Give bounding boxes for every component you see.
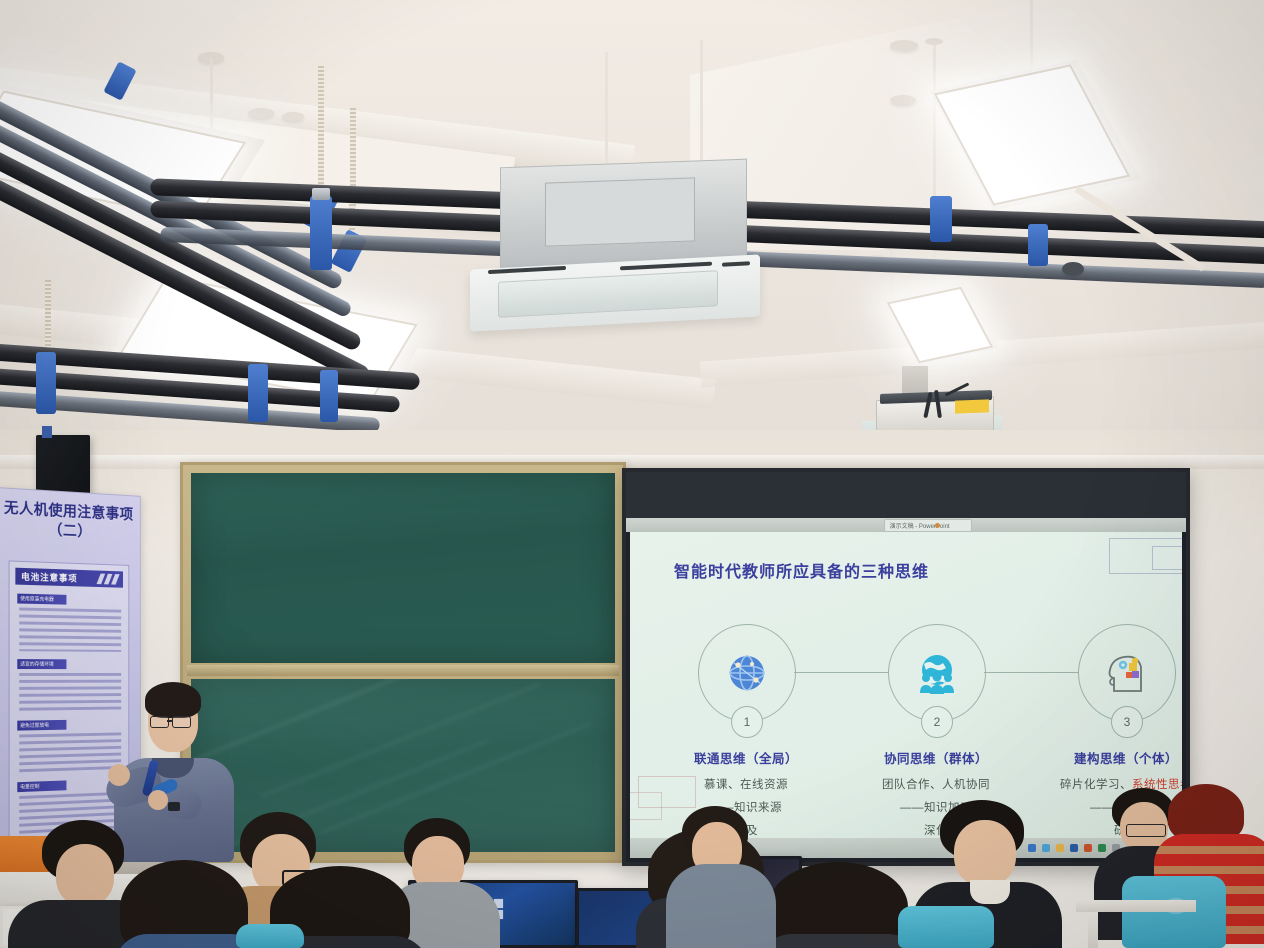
shirt-collar	[970, 880, 1010, 904]
slide-column-line-pre: 碎片化学习、	[1060, 779, 1132, 791]
slide-column-heading: 联通思维（全局）	[651, 748, 841, 767]
blackboard	[180, 462, 626, 863]
poster-section-heading: 适宜的存储环境	[17, 659, 66, 669]
ac-access-panel	[545, 177, 695, 246]
poster-title: 无人机使用注意事项 （二）	[0, 498, 140, 545]
smoke-detector-icon	[248, 108, 274, 118]
slide-node-3: 3	[1078, 624, 1176, 722]
poster-section-body	[19, 732, 121, 774]
ceiling	[0, 0, 1264, 470]
presenter-left-hand	[108, 764, 130, 786]
word-icon[interactable]	[1070, 844, 1078, 852]
projector-label	[955, 399, 989, 413]
window-title: 演示文稿 - PowerPoint	[890, 521, 950, 530]
classroom-photo: 无人机使用注意事项 （二） 电池注意事项 使用原装充电器 适宜的存储环境 避免过…	[0, 0, 1264, 948]
head-gears-puzzle-icon	[1101, 647, 1153, 699]
node-connector	[984, 672, 1078, 673]
slide-column-heading: 协同思维（群体）	[841, 748, 1031, 767]
glasses-icon	[172, 716, 191, 728]
speaker-bracket	[42, 426, 52, 438]
slide-node-number: 1	[731, 706, 763, 738]
pipe-clamp	[320, 370, 338, 422]
wall-speaker	[36, 435, 90, 495]
presenter-right-hand	[148, 790, 168, 810]
record-dot-icon	[935, 523, 940, 528]
slide-column-line: ——知识来源	[651, 799, 841, 815]
hanger-rod	[210, 58, 213, 136]
slide-node-number: 2	[921, 706, 953, 738]
slide-node-number: 3	[1111, 706, 1143, 738]
smoke-detector-icon	[890, 95, 916, 105]
glasses-bridge	[167, 720, 172, 722]
slide-node-1: 1	[698, 624, 796, 722]
poster-banner: 电池注意事项	[15, 568, 123, 588]
blackboard-rail	[187, 665, 619, 676]
presenter-hair	[145, 682, 201, 718]
head	[56, 844, 114, 906]
hanger-rod	[933, 42, 936, 292]
glasses-icon	[150, 716, 169, 728]
classroom-chair[interactable]	[898, 906, 994, 948]
poster-banner-label: 电池注意事项	[21, 570, 77, 585]
display-bezel	[626, 472, 1186, 518]
poster-section-label: 电量控制	[20, 782, 39, 790]
presenter	[112, 672, 236, 862]
smoke-detector-icon	[282, 112, 304, 121]
pipe-clamp	[930, 196, 952, 242]
globe-network-icon	[721, 647, 773, 699]
camera-dome-icon	[1062, 262, 1084, 276]
hanger-rod	[605, 52, 608, 172]
pipe-clamp	[310, 196, 332, 270]
node-connector	[794, 672, 888, 673]
rod-cap	[925, 38, 943, 45]
pipe-clamp	[1028, 224, 1048, 266]
presentation-slide: 智能时代教师所应具备的三种思维	[630, 532, 1182, 838]
browser-icon[interactable]	[1042, 844, 1050, 852]
classroom-chair[interactable]	[1122, 876, 1226, 948]
chevron-icon	[111, 574, 119, 585]
slide-column-line: 慕课、在线资源	[651, 776, 841, 792]
explorer-icon[interactable]	[1028, 844, 1036, 852]
poster-section-heading: 使用原装充电器	[17, 594, 66, 605]
rod-cap	[202, 52, 220, 59]
slide-node-2: 2	[888, 624, 986, 722]
slide-decoration-top-right-2	[1152, 546, 1182, 570]
pipe-clamp	[248, 364, 268, 422]
slide-title: 智能时代教师所应具备的三种思维	[674, 558, 929, 582]
chalk-smudge	[262, 683, 541, 797]
poster-section-body	[19, 608, 121, 652]
glasses-icon	[1126, 824, 1166, 837]
classroom-chair[interactable]	[236, 924, 304, 948]
poster-section-label: 避免过度放电	[20, 721, 49, 729]
wristwatch	[168, 802, 180, 811]
slide-column-heading: 建构思维（个体）	[1031, 748, 1182, 767]
hanger-rod	[700, 40, 703, 160]
blackboard-upper-panel	[191, 473, 615, 663]
poster-section-label: 适宜的存储环境	[20, 660, 54, 667]
student-desk	[1088, 912, 1098, 948]
pipe-clamp	[36, 352, 56, 414]
folder-icon[interactable]	[1056, 844, 1064, 852]
slide-column-line: 团队合作、人机协同	[841, 776, 1031, 792]
poster-section-heading: 电量控制	[17, 780, 66, 792]
window-titlebar[interactable]: 演示文稿 - PowerPoint	[626, 518, 1186, 532]
people-group-globe-icon	[911, 647, 963, 699]
poster-section-label: 使用原装充电器	[20, 595, 54, 603]
poster-section-body	[19, 673, 121, 713]
chalk-smudge	[321, 723, 591, 833]
excel-icon[interactable]	[1098, 844, 1106, 852]
window-title-pill[interactable]: 演示文稿 - PowerPoint	[884, 519, 972, 532]
student-desk	[1076, 900, 1196, 912]
head	[954, 820, 1016, 886]
hanger-rod	[318, 66, 324, 198]
powerpoint-icon[interactable]	[1084, 844, 1092, 852]
smoke-detector-icon	[890, 40, 918, 51]
slide-column-line-mixed: 碎片化学习、系统性思考	[1031, 776, 1182, 792]
poster-section-heading: 避免过度放电	[17, 720, 66, 731]
pipe-clamp	[312, 188, 330, 200]
torso	[666, 864, 776, 948]
